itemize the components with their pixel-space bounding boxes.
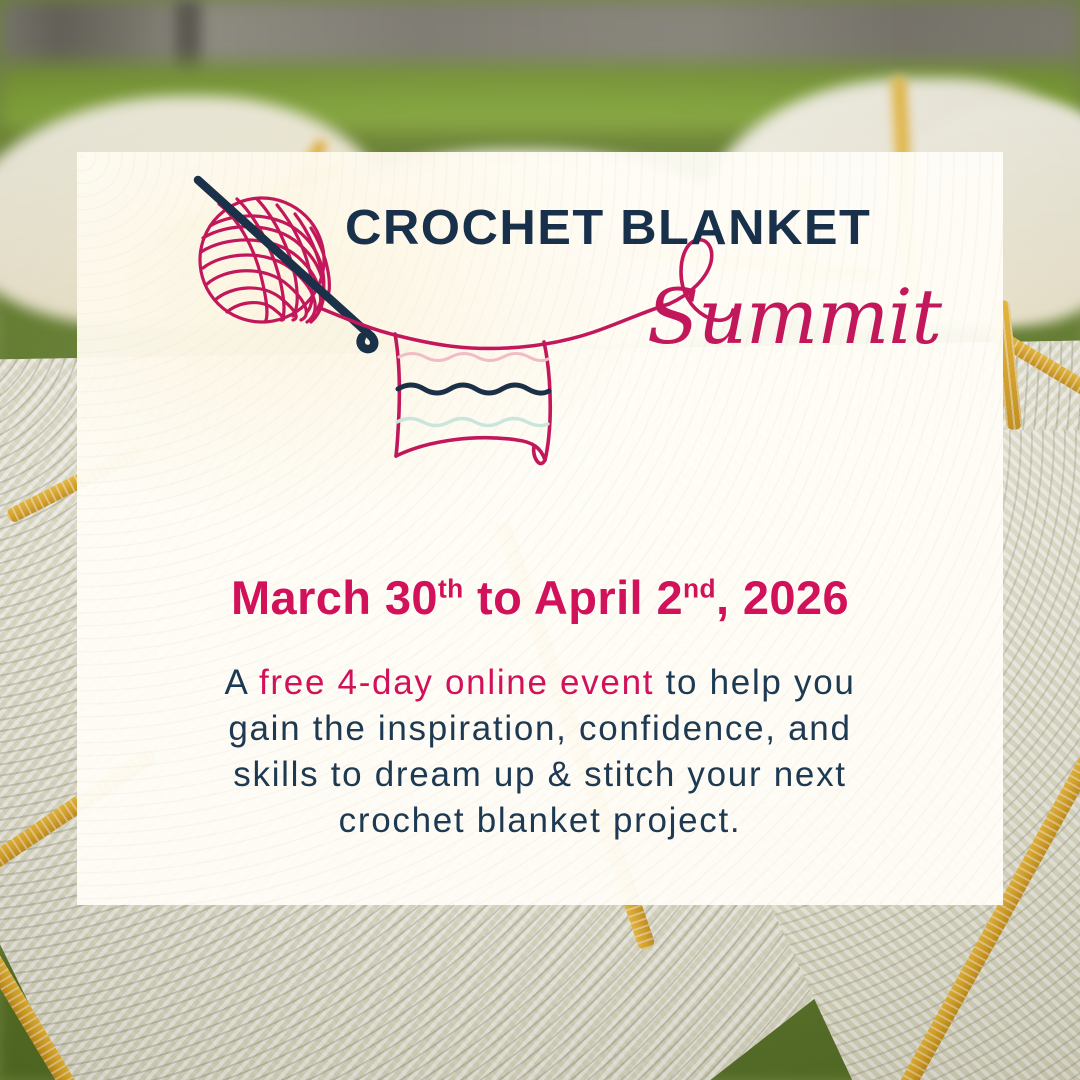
content-card: CROCHET BLANKET Summit March 30th to Apr… (77, 152, 1003, 905)
date-ordinal-1: th (438, 573, 464, 603)
description-line-3: skills to dream up & stitch your next (117, 752, 963, 798)
date-middle: to April 2 (464, 571, 683, 624)
yarn-ball-icon (200, 198, 329, 322)
description-pre: A (224, 663, 259, 702)
date-prefix: March 30 (231, 571, 438, 624)
description-line-4: crochet blanket project. (117, 798, 963, 844)
event-description: A free 4-day online event to help you ga… (117, 660, 963, 844)
blanket-wave-mint (397, 419, 548, 426)
logo-title: CROCHET BLANKET (345, 200, 871, 256)
description-line-2: gain the inspiration, confidence, and (117, 706, 963, 752)
description-post: to help you (654, 663, 855, 702)
logo-script-word: Summit (647, 272, 941, 361)
event-date: March 30th to April 2nd, 2026 (77, 570, 1003, 625)
description-line-1: A free 4-day online event to help you (117, 660, 963, 706)
date-ordinal-2: nd (683, 573, 716, 603)
blanket-wave-navy (398, 385, 549, 393)
logo-lockup: CROCHET BLANKET Summit (77, 152, 1003, 482)
date-suffix: , 2026 (716, 571, 849, 624)
blanket-wave-pink (399, 354, 548, 361)
description-highlight: free 4-day online event (259, 663, 654, 702)
